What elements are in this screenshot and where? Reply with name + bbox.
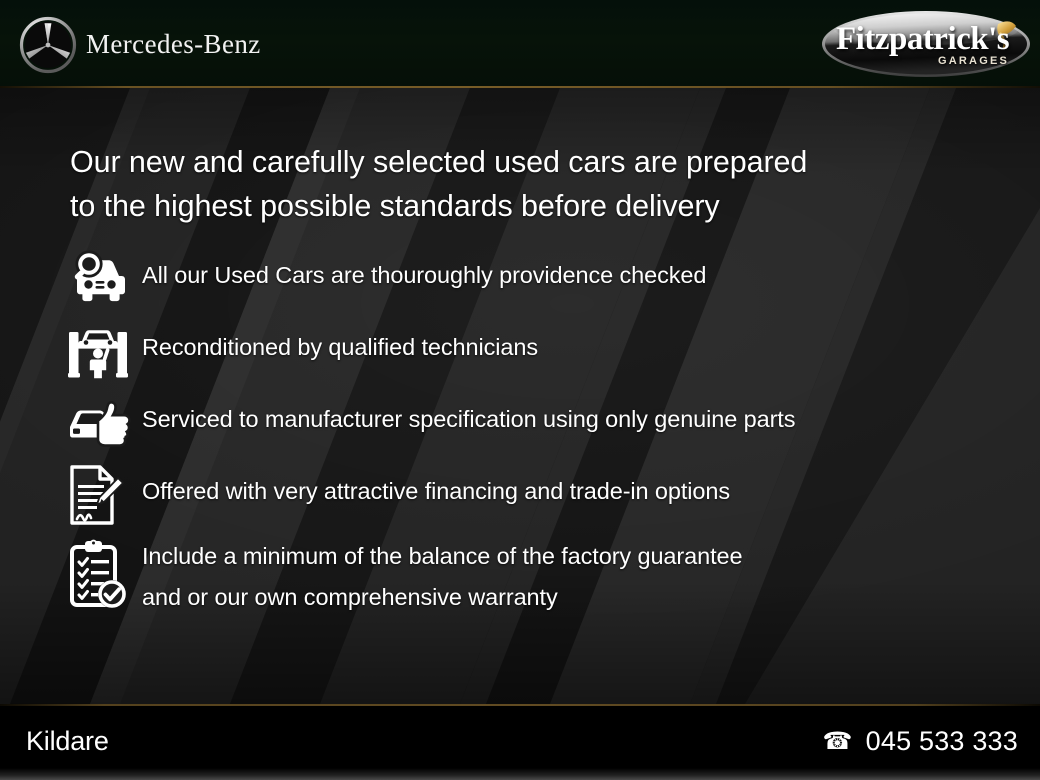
list-item-label: All our Used Cars are thouroughly provid… — [142, 246, 706, 296]
page-title: Our new and carefully selected used cars… — [70, 140, 970, 228]
main-content: Our new and carefully selected used cars… — [0, 88, 1040, 704]
list-item: Reconditioned by qualified technicians — [68, 318, 998, 384]
list-item-label: Include a minimum of the balance of the … — [142, 534, 742, 618]
list-item-label: Offered with very attractive financing a… — [142, 462, 730, 512]
list-item-label: Serviced to manufacturer specification u… — [142, 390, 795, 440]
car-inspection-magnifier-icon — [68, 246, 142, 312]
promo-slide: Mercedes-Benz — [0, 0, 1040, 780]
list-item: Serviced to manufacturer specification u… — [68, 390, 998, 456]
headline-line-1: Our new and carefully selected used cars… — [70, 140, 970, 184]
footer-glow — [0, 768, 1040, 780]
dealer-subtitle: GARAGES — [938, 55, 1009, 67]
document-signature-pen-icon — [68, 462, 142, 528]
list-item-label: Reconditioned by qualified technicians — [142, 318, 538, 368]
mercedes-benz-star-icon — [19, 16, 77, 74]
dealer-name: Fitzpatrick's — [836, 21, 1009, 58]
list-item: All our Used Cars are thouroughly provid… — [68, 246, 998, 312]
contact-phone[interactable]: ☎ 045 533 333 — [823, 726, 1018, 757]
telephone-icon: ☎ — [823, 730, 853, 754]
benefits-list: All our Used Cars are thouroughly provid… — [68, 246, 998, 636]
list-item: Include a minimum of the balance of the … — [68, 534, 998, 630]
car-on-lift-technician-icon — [68, 318, 142, 384]
dealer-location: Kildare — [26, 726, 109, 757]
fitzpatricks-garages-badge-icon[interactable]: Fitzpatrick's GARAGES — [820, 6, 1032, 82]
list-item: Offered with very attractive financing a… — [68, 462, 998, 528]
footer-divider — [0, 704, 1040, 706]
clipboard-checklist-verified-icon — [68, 534, 142, 630]
brand-name: Mercedes-Benz — [86, 29, 261, 60]
phone-number: 045 533 333 — [866, 726, 1018, 757]
car-thumbs-up-icon — [68, 390, 142, 456]
page-header: Mercedes-Benz — [0, 0, 1040, 88]
page-footer: Kildare ☎ 045 533 333 — [0, 704, 1040, 780]
headline-line-2: to the highest possible standards before… — [70, 184, 970, 228]
